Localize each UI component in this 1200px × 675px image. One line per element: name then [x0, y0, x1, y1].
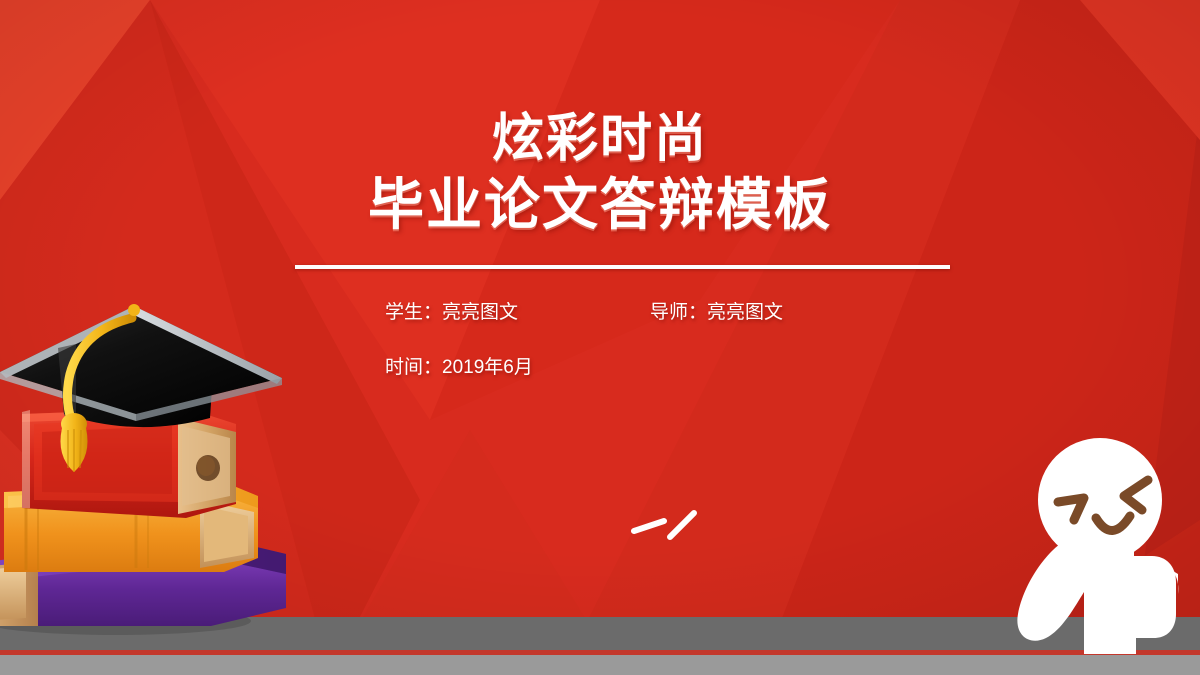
date-label: 时间：: [385, 357, 442, 378]
date-field: 时间：2019年6月: [385, 358, 533, 377]
byline-row-date: 时间：2019年6月: [385, 358, 783, 377]
advisor-label: 导师：: [650, 302, 707, 323]
title-block: 炫彩时尚 毕业论文答辩模板: [0, 112, 1200, 234]
date-value: 2019年6月: [442, 357, 533, 378]
graduation-cap-on-books-illustration: [0, 296, 316, 646]
byline-block: 学生：亮亮图文 导师：亮亮图文 时间：2019年6月: [385, 303, 783, 377]
presentation-cover-slide: 炫彩时尚 毕业论文答辩模板 学生：亮亮图文 导师：亮亮图文 时间：2019年6月: [0, 0, 1200, 675]
student-label: 学生：: [385, 302, 442, 323]
white-blob-mascot-illustration: [1008, 432, 1200, 675]
advisor-value: 亮亮图文: [707, 302, 783, 323]
byline-row-people: 学生：亮亮图文 导师：亮亮图文: [385, 303, 783, 322]
title-line-primary: 炫彩时尚: [0, 112, 1200, 167]
title-line-secondary: 毕业论文答辩模板: [0, 175, 1200, 234]
student-field: 学生：亮亮图文: [385, 303, 650, 322]
title-divider: [295, 265, 950, 269]
student-value: 亮亮图文: [442, 302, 518, 323]
mascot-body: [1017, 438, 1178, 654]
decorative-dashes-icon: [630, 505, 710, 555]
advisor-field: 导师：亮亮图文: [650, 303, 783, 322]
